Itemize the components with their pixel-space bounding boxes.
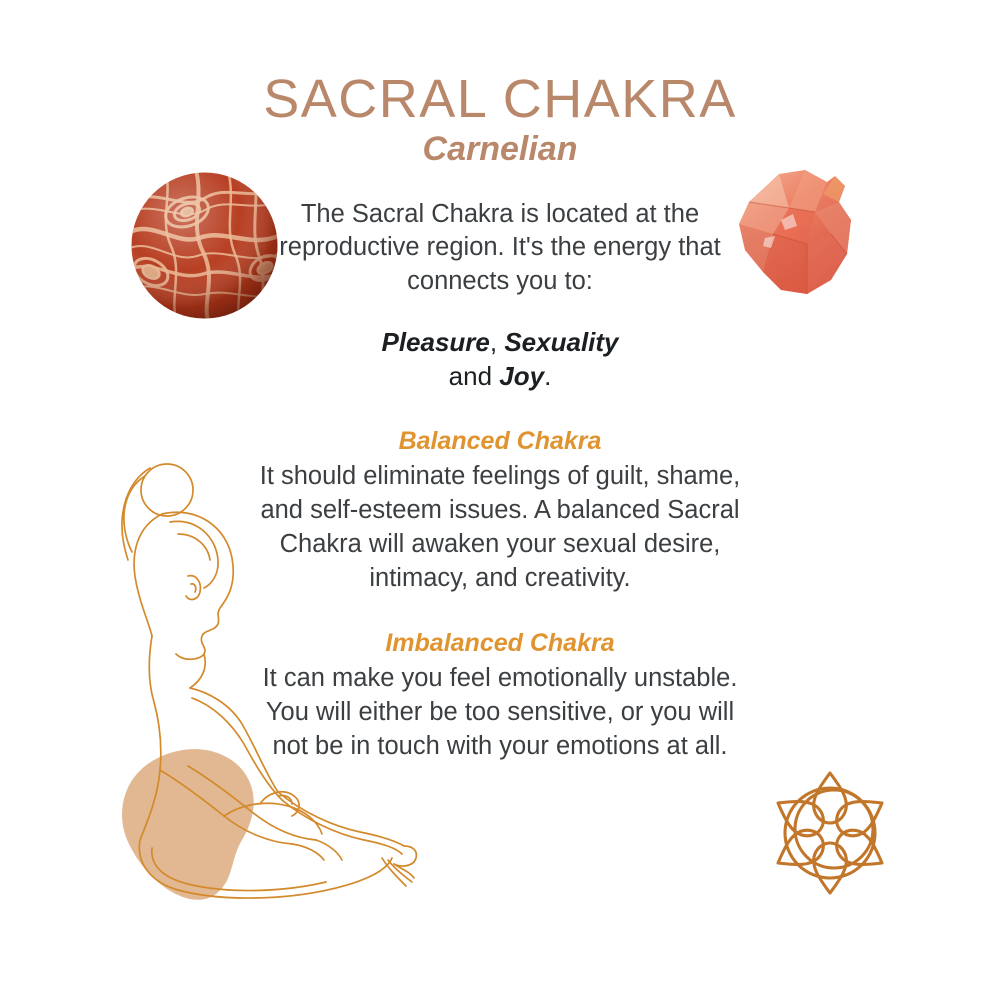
keyword-separator: ,: [490, 327, 504, 357]
hair-bun: [141, 464, 193, 516]
page-title: SACRAL CHAKRA: [0, 72, 1000, 126]
keywords-line: Pleasure, Sexuality and Joy.: [255, 325, 745, 394]
keyword-terminator: .: [544, 361, 551, 391]
page-subtitle: Carnelian: [0, 132, 1000, 166]
keyword-joy: Joy: [499, 361, 544, 391]
meditating-woman-illustration: [92, 448, 422, 918]
keyword-connector: and: [449, 361, 500, 391]
keyword-pleasure: Pleasure: [381, 327, 489, 357]
raw-carnelian-stone-image: [735, 168, 861, 302]
intro-paragraph: The Sacral Chakra is located at the repr…: [255, 198, 745, 300]
svadhisthana-chakra-symbol: [764, 763, 900, 905]
sacral-chakra-infographic: SACRAL CHAKRA Carnelian: [0, 0, 1000, 1000]
keyword-sexuality: Sexuality: [504, 327, 618, 357]
sacral-energy-blob: [122, 749, 254, 900]
